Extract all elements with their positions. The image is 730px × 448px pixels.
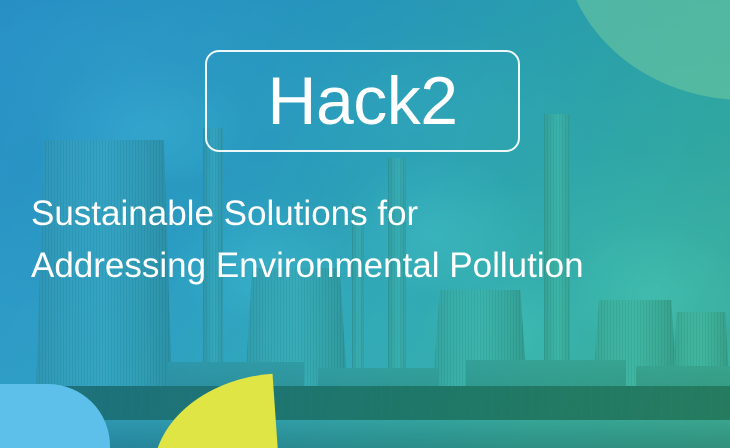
banner-content: Hack2 Sustainable Solutions for Addressi…: [0, 0, 730, 448]
title-badge: Hack2: [205, 50, 520, 152]
banner-subtitle: Sustainable Solutions for Addressing Env…: [31, 188, 591, 292]
hackathon-banner: Hack2 Sustainable Solutions for Addressi…: [0, 0, 730, 448]
banner-title: Hack2: [267, 67, 457, 135]
